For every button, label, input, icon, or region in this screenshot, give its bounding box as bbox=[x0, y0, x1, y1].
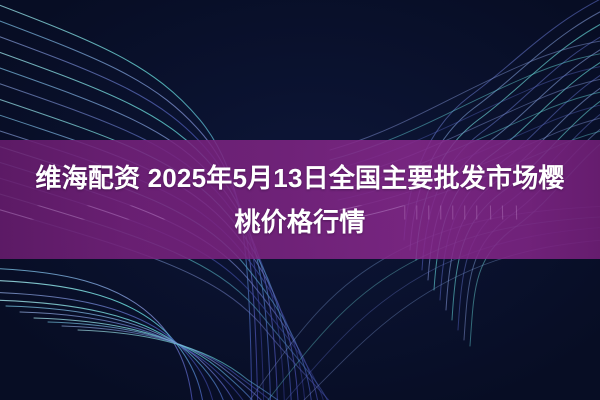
banner-title-container: 维海配资 2025年5月13日全国主要批发市场樱 桃价格行情 bbox=[0, 140, 600, 259]
banner-title-line-1: 维海配资 2025年5月13日全国主要批发市场樱 bbox=[35, 156, 564, 200]
banner-title-line-2: 桃价格行情 bbox=[234, 200, 365, 244]
promo-banner: 维海配资 2025年5月13日全国主要批发市场樱 桃价格行情 bbox=[0, 0, 600, 400]
